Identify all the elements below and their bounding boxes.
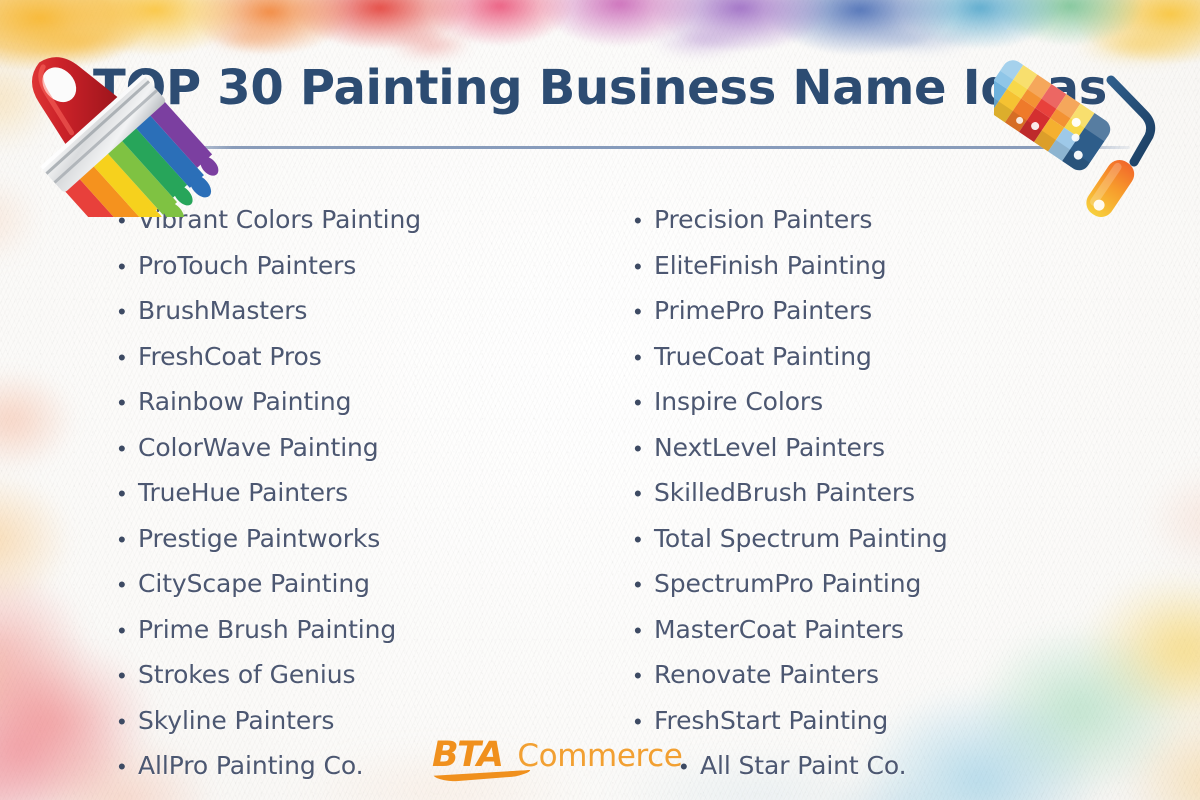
bullet-icon: • [118, 756, 138, 778]
business-name-label: Vibrant Colors Painting [138, 205, 421, 234]
business-name-label: MasterCoat Painters [654, 615, 904, 644]
bullet-icon: • [634, 347, 654, 369]
bullet-icon: • [118, 301, 138, 323]
business-name-label: Prime Brush Painting [138, 615, 396, 644]
bullet-icon: • [118, 665, 138, 687]
bullet-icon: • [634, 665, 654, 687]
list-item: •SkilledBrush Painters [634, 478, 1104, 524]
business-name-label: Rainbow Painting [138, 387, 351, 416]
bullet-icon: • [634, 301, 654, 323]
bullet-icon: • [634, 256, 654, 278]
bullet-icon: • [634, 483, 654, 505]
business-name-label: TrueCoat Painting [654, 342, 872, 371]
brand-logo-mark-text: BTA [432, 735, 502, 775]
bullet-icon: • [118, 529, 138, 551]
bullet-icon: • [634, 438, 654, 460]
bullet-icon: • [634, 392, 654, 414]
business-name-label: BrushMasters [138, 296, 307, 325]
bullet-icon: • [118, 438, 138, 460]
list-item: •FreshStart Painting [634, 706, 1104, 752]
brand-logo[interactable]: BTA Commerce [432, 738, 682, 780]
business-name-label: EliteFinish Painting [654, 251, 887, 280]
bullet-icon: • [118, 574, 138, 596]
bullet-icon: • [680, 756, 700, 778]
list-item: •Inspire Colors [634, 387, 1104, 433]
business-name-label: TrueHue Painters [138, 478, 348, 507]
list-item: •Renovate Painters [634, 660, 1104, 706]
list-item: •ProTouch Painters [118, 251, 588, 297]
list-item: •TrueHue Painters [118, 478, 588, 524]
business-name-label: Prestige Paintworks [138, 524, 380, 553]
business-name-label: NextLevel Painters [654, 433, 885, 462]
name-ideas-lists: •Vibrant Colors Painting•ProTouch Painte… [0, 205, 1200, 795]
brand-logo-mark: BTA [432, 738, 508, 773]
list-item: •TrueCoat Painting [634, 342, 1104, 388]
bullet-icon: • [118, 483, 138, 505]
list-item: •Strokes of Genius [118, 660, 588, 706]
bullet-icon: • [118, 620, 138, 642]
business-name-label: FreshStart Painting [654, 706, 888, 735]
list-item: •Total Spectrum Painting [634, 524, 1104, 570]
bullet-icon: • [634, 574, 654, 596]
title-divider [155, 146, 1130, 149]
business-name-label: SpectrumPro Painting [654, 569, 921, 598]
business-name-label: AllPro Painting Co. [138, 751, 363, 780]
business-name-label: All Star Paint Co. [700, 751, 906, 780]
bullet-icon: • [118, 210, 138, 232]
list-item: •PrimePro Painters [634, 296, 1104, 342]
name-list-right-column: •Precision Painters•EliteFinish Painting… [634, 205, 1104, 797]
bullet-icon: • [118, 347, 138, 369]
bullet-icon: • [634, 620, 654, 642]
business-name-label: FreshCoat Pros [138, 342, 322, 371]
bullet-icon: • [118, 256, 138, 278]
page-title: TOP 30 Painting Business Name Ideas [0, 62, 1200, 115]
bullet-icon: • [634, 210, 654, 232]
business-name-label: Total Spectrum Painting [654, 524, 948, 553]
list-item: •NextLevel Painters [634, 433, 1104, 479]
list-item: •SpectrumPro Painting [634, 569, 1104, 615]
list-item: •Precision Painters [634, 205, 1104, 251]
business-name-label: Inspire Colors [654, 387, 823, 416]
list-item: •Rainbow Painting [118, 387, 588, 433]
business-name-label: SkilledBrush Painters [654, 478, 915, 507]
business-name-label: Renovate Painters [654, 660, 879, 689]
business-name-label: Skyline Painters [138, 706, 334, 735]
list-item: •FreshCoat Pros [118, 342, 588, 388]
list-item: •BrushMasters [118, 296, 588, 342]
bullet-icon: • [118, 392, 138, 414]
poster-canvas: TOP 30 Painting Business Name Ideas •Vib… [0, 0, 1200, 800]
list-item: •MasterCoat Painters [634, 615, 1104, 661]
list-item: •ColorWave Painting [118, 433, 588, 479]
list-item: •Prime Brush Painting [118, 615, 588, 661]
list-item: •All Star Paint Co. [634, 751, 1104, 797]
list-item: •CityScape Painting [118, 569, 588, 615]
name-list-left-column: •Vibrant Colors Painting•ProTouch Painte… [118, 205, 588, 797]
list-item: •EliteFinish Painting [634, 251, 1104, 297]
business-name-label: PrimePro Painters [654, 296, 872, 325]
list-item: •Vibrant Colors Painting [118, 205, 588, 251]
bullet-icon: • [634, 529, 654, 551]
business-name-label: Precision Painters [654, 205, 872, 234]
list-item: •Prestige Paintworks [118, 524, 588, 570]
business-name-label: ProTouch Painters [138, 251, 356, 280]
bullet-icon: • [118, 711, 138, 733]
business-name-label: ColorWave Painting [138, 433, 379, 462]
business-name-label: Strokes of Genius [138, 660, 355, 689]
brand-logo-word: Commerce [517, 741, 682, 772]
title-block: TOP 30 Painting Business Name Ideas [0, 62, 1200, 115]
business-name-label: CityScape Painting [138, 569, 370, 598]
bullet-icon: • [634, 711, 654, 733]
